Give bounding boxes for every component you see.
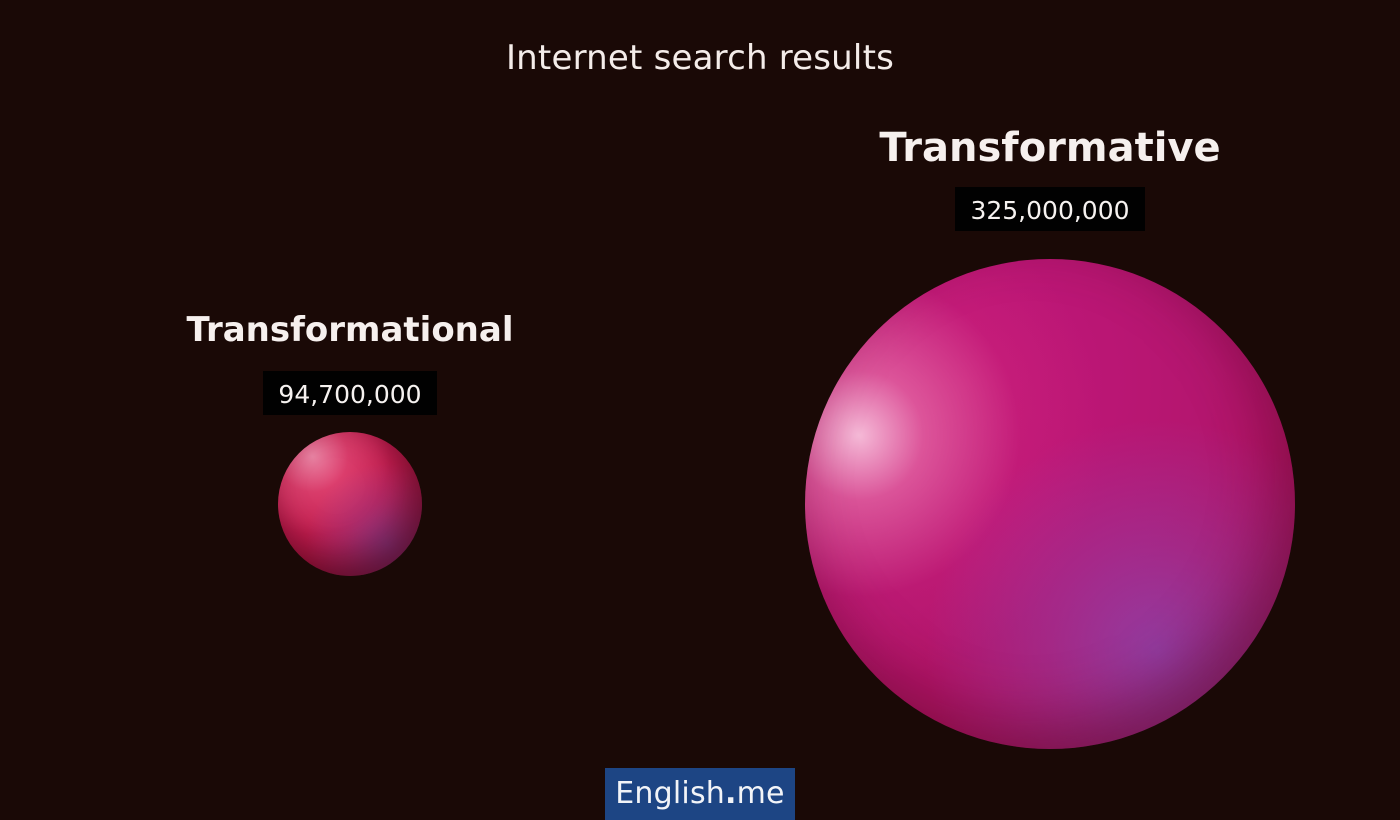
site-logo-badge[interactable]: English.me <box>605 768 795 820</box>
logo-tld-part: me <box>737 776 785 811</box>
bubble-value-transformative: 325,000,000 <box>955 187 1145 231</box>
site-logo-text: English.me <box>615 779 784 809</box>
logo-name-part: English <box>615 776 725 811</box>
page-title: Internet search results <box>0 38 1400 78</box>
logo-dot: . <box>725 776 737 811</box>
bubble-circle-transformational[interactable] <box>278 432 422 576</box>
bubble-circle-transformative[interactable] <box>805 259 1295 749</box>
chart-canvas: Internet search results Transformational… <box>0 0 1400 820</box>
bubble-label-transformative: Transformative <box>876 128 1224 168</box>
bubble-value-transformational: 94,700,000 <box>263 371 437 415</box>
bubble-label-transformational: Transformational <box>176 313 524 347</box>
